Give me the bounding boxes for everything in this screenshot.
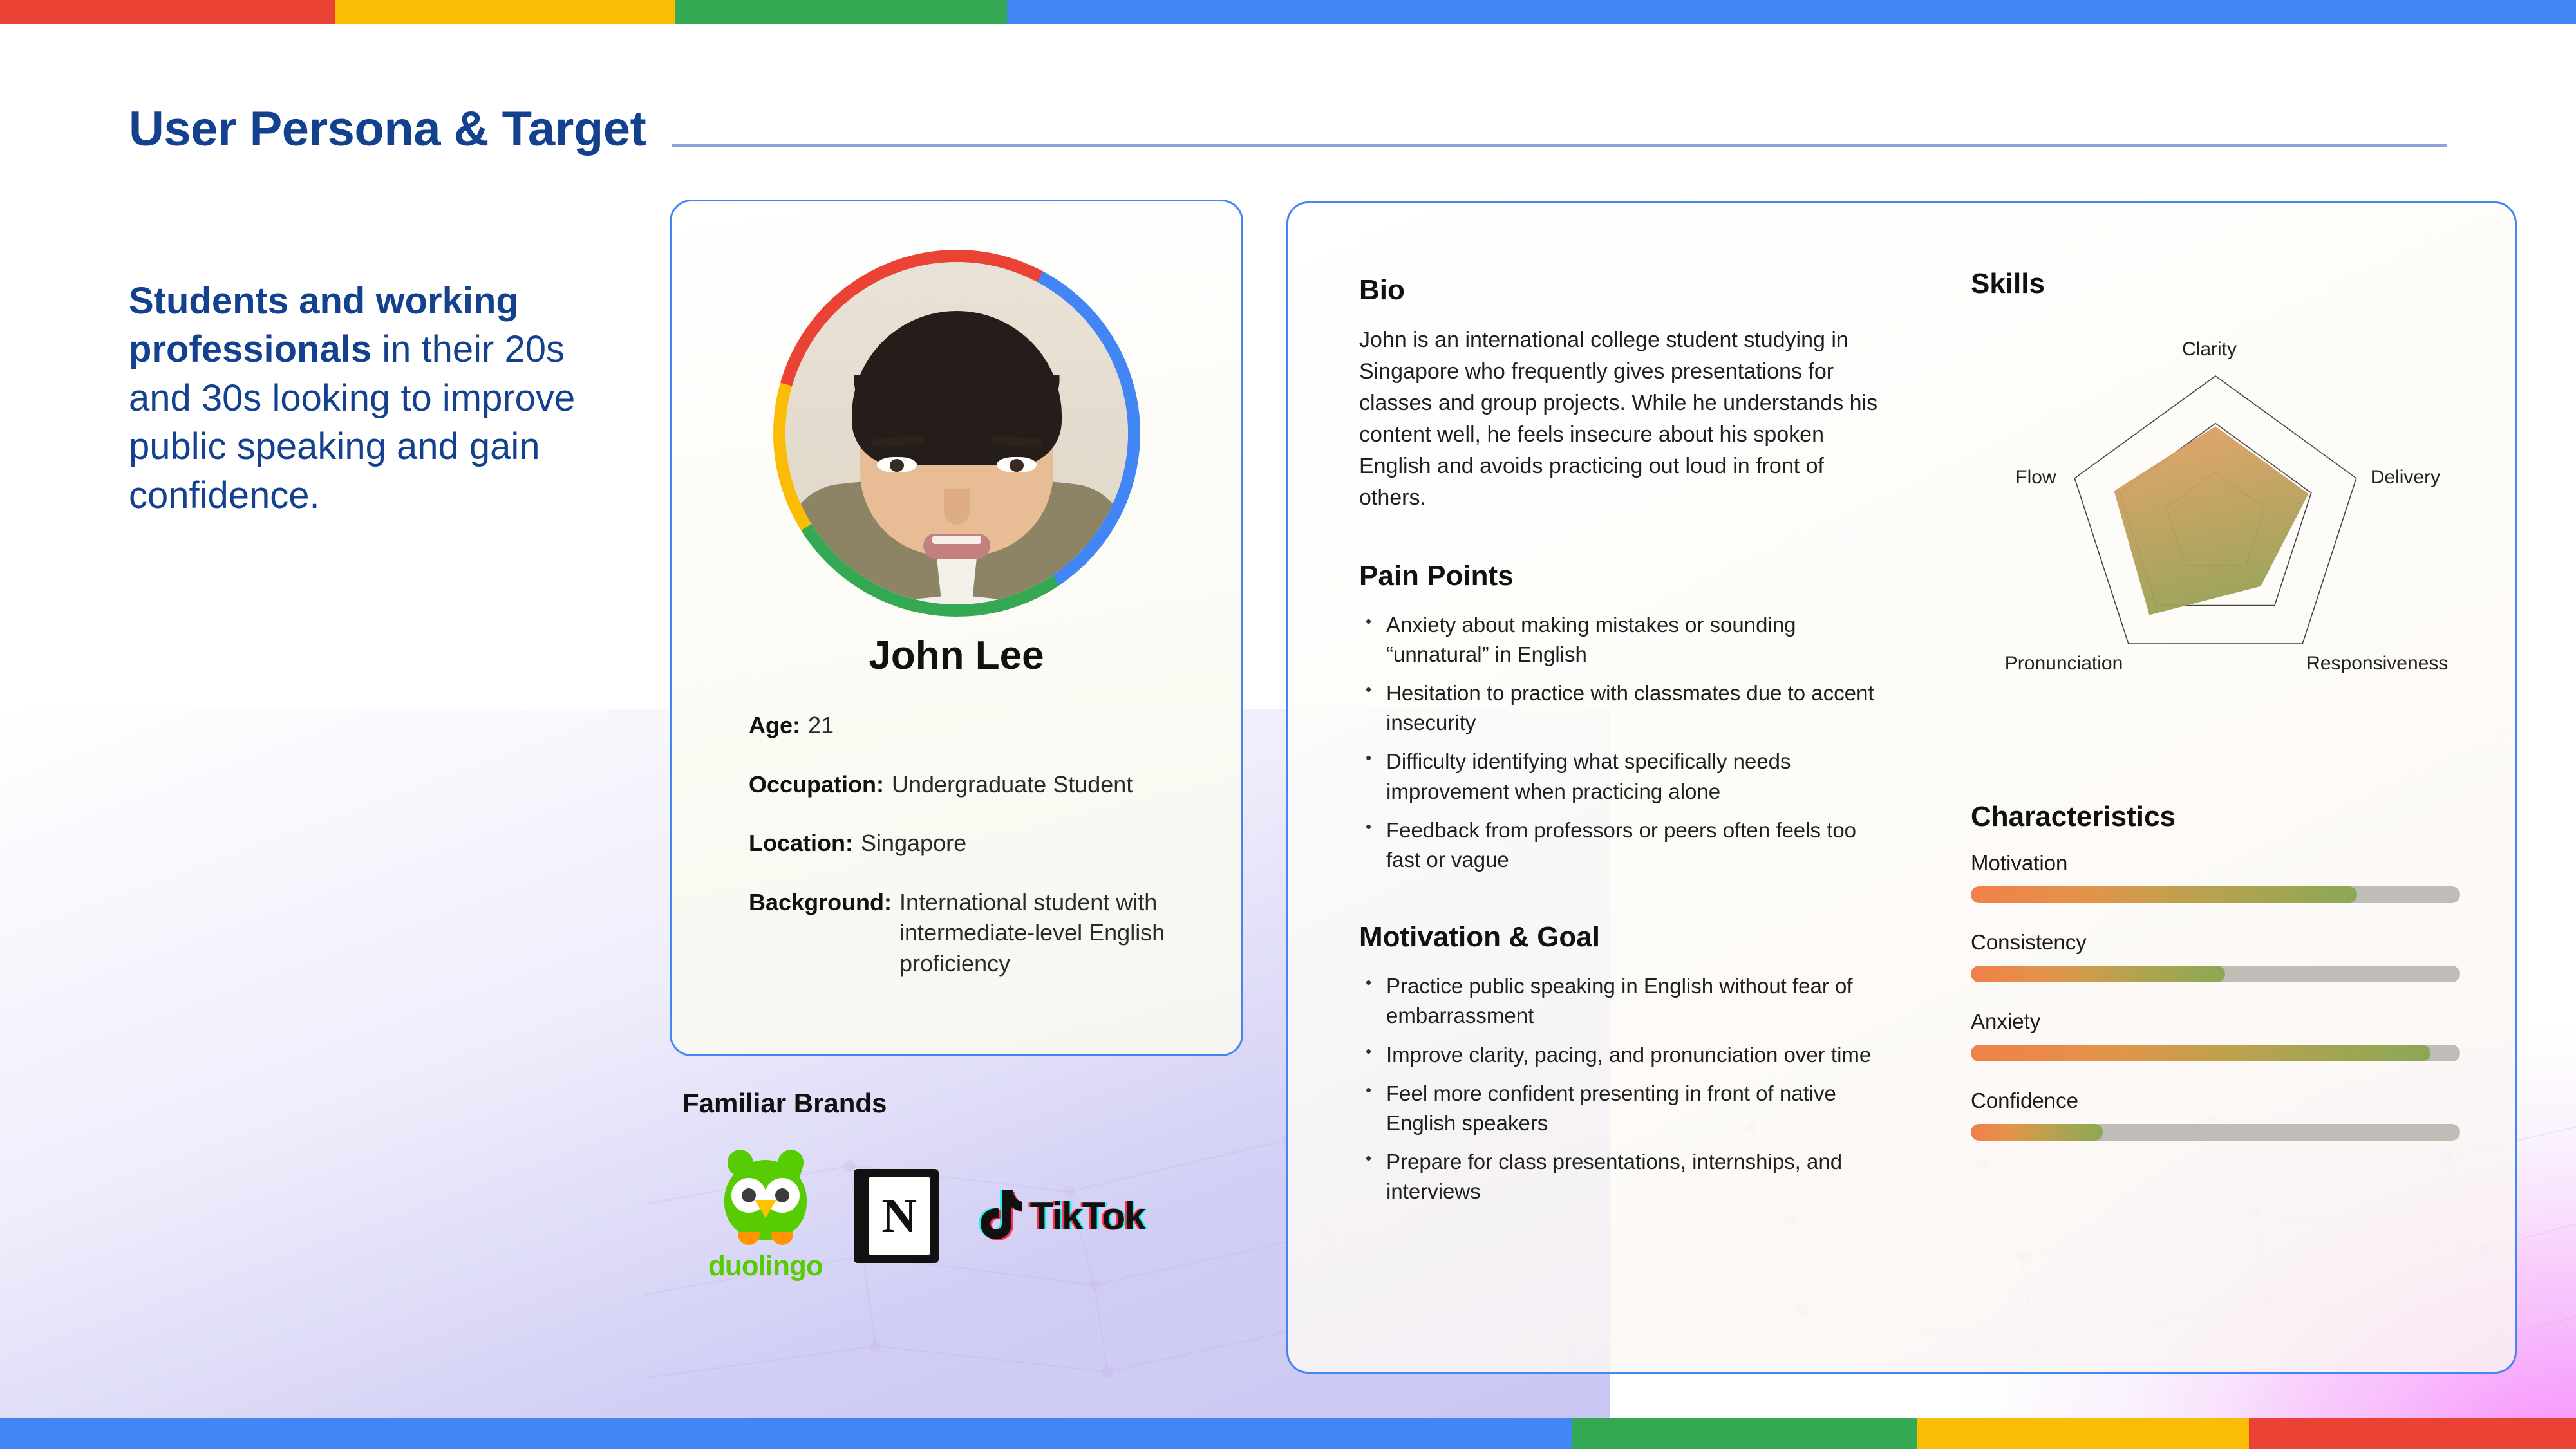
motivation-list: Practice public speaking in English with… <box>1359 971 1887 1206</box>
radar-label-responsiveness: Responsiveness <box>2306 653 2448 675</box>
persona-field-label: Location: <box>749 828 853 859</box>
skills-radar-chart: Clarity Delivery Responsiveness Pronunci… <box>1971 318 2460 769</box>
characteristic-fill <box>1971 1045 2430 1061</box>
duolingo-owl-icon <box>717 1150 814 1246</box>
persona-field-value: Singapore <box>861 828 966 859</box>
list-item: Hesitation to practice with classmates d… <box>1359 678 1887 738</box>
notion-logo: N <box>860 1169 939 1263</box>
tiktok-wordmark: TikTok <box>1030 1194 1145 1239</box>
list-item: Anxiety about making mistakes or soundin… <box>1359 610 1887 669</box>
characteristic-fill <box>1971 1124 2103 1141</box>
characteristic-track <box>1971 886 2460 903</box>
avatar-photo <box>785 262 1128 604</box>
topbar-segment-green <box>675 0 1007 24</box>
owl-beak <box>755 1200 776 1218</box>
notion-inner-face: N <box>869 1177 930 1255</box>
radar-label-clarity: Clarity <box>2182 339 2237 360</box>
pain-points-list: Anxiety about making mistakes or soundin… <box>1359 610 1887 875</box>
owl-pupil-right <box>775 1188 789 1202</box>
persona-field-value: Undergraduate Student <box>892 769 1133 800</box>
notion-box-icon: N <box>860 1169 939 1263</box>
characteristic-track <box>1971 966 2460 982</box>
persona-field-value: International student with intermediate-… <box>899 887 1203 979</box>
characteristic-label: Consistency <box>1971 930 2460 955</box>
radar-label-flow: Flow <box>2015 467 2056 489</box>
persona-field-row: Age:21 <box>749 710 1203 741</box>
persona-card: John Lee Age:21Occupation:Undergraduate … <box>670 200 1243 1056</box>
bottombar-segment-green <box>1572 1418 1917 1449</box>
characteristic-label: Motivation <box>1971 851 2460 875</box>
motivation-heading: Motivation & Goal <box>1359 921 1887 953</box>
duolingo-wordmark: duolingo <box>708 1250 823 1282</box>
detail-left-column: Bio John is an international college stu… <box>1359 274 1887 1216</box>
radar-label-pronunciation: Pronunciation <box>2005 653 2123 675</box>
brand-logo-row: duolingo N TikTok <box>682 1150 1262 1282</box>
tiktok-note-icon <box>976 1188 1022 1244</box>
avatar <box>773 250 1140 617</box>
pain-points-heading: Pain Points <box>1359 560 1887 592</box>
skills-heading: Skills <box>1971 268 2460 300</box>
owl-foot-left <box>738 1232 760 1245</box>
avatar-nose <box>944 489 970 525</box>
characteristic-fill <box>1971 966 2225 982</box>
characteristic-row: Anxiety <box>1971 1009 2460 1061</box>
bio-heading: Bio <box>1359 274 1887 306</box>
persona-field-label: Age: <box>749 710 800 741</box>
topbar-segment-blue <box>1007 0 2576 24</box>
list-item: Improve clarity, pacing, and pronunciati… <box>1359 1040 1887 1070</box>
radar-label-delivery: Delivery <box>2371 467 2440 489</box>
topbar-segment-yellow <box>335 0 675 24</box>
familiar-brands-section: Familiar Brands duolingo N <box>682 1088 1262 1282</box>
persona-field-row: Location:Singapore <box>749 828 1203 859</box>
skills-section: Skills Clarity Delivery Responsiveness P… <box>1971 268 2460 769</box>
bio-section: Bio John is an international college stu… <box>1359 274 1887 514</box>
list-item: Prepare for class presentations, interns… <box>1359 1147 1887 1206</box>
motivation-section: Motivation & Goal Practice public speaki… <box>1359 921 1887 1206</box>
notion-wordmark: N <box>881 1192 917 1240</box>
characteristic-track <box>1971 1045 2460 1061</box>
title-divider <box>672 144 2447 147</box>
persona-name: John Lee <box>672 633 1241 678</box>
page-title: User Persona & Target <box>129 101 646 157</box>
list-item: Difficulty identifying what specifically… <box>1359 747 1887 806</box>
characteristic-label: Anxiety <box>1971 1009 2460 1034</box>
bottombar-segment-yellow <box>1917 1418 2249 1449</box>
pain-points-section: Pain Points Anxiety about making mistake… <box>1359 560 1887 875</box>
tiktok-logo: TikTok <box>976 1188 1145 1244</box>
duolingo-logo: duolingo <box>708 1150 823 1282</box>
avatar-teeth <box>932 536 981 544</box>
characteristic-track <box>1971 1124 2460 1141</box>
list-item: Feedback from professors or peers often … <box>1359 816 1887 875</box>
persona-field-list: Age:21Occupation:Undergraduate StudentLo… <box>749 710 1203 978</box>
owl-foot-right <box>771 1232 793 1245</box>
characteristic-fill <box>1971 886 2357 903</box>
avatar-eye-left <box>877 457 917 472</box>
persona-field-row: Occupation:Undergraduate Student <box>749 769 1203 800</box>
bottom-color-bar <box>0 1418 2576 1449</box>
avatar-pupil-left <box>890 459 904 472</box>
detail-right-column: Skills Clarity Delivery Responsiveness P… <box>1971 268 2460 1141</box>
characteristics-heading: Characteristics <box>1971 801 2460 833</box>
characteristic-row: Motivation <box>1971 851 2460 903</box>
characteristic-row: Confidence <box>1971 1089 2460 1141</box>
tiktok-note-glyph <box>976 1188 1022 1244</box>
familiar-brands-title: Familiar Brands <box>682 1088 1262 1119</box>
characteristic-label: Confidence <box>1971 1089 2460 1113</box>
list-item: Practice public speaking in English with… <box>1359 971 1887 1031</box>
characteristics-bar-list: MotivationConsistencyAnxietyConfidence <box>1971 851 2460 1141</box>
characteristic-row: Consistency <box>1971 930 2460 982</box>
avatar-mouth <box>923 534 990 559</box>
persona-field-label: Occupation: <box>749 769 884 800</box>
bottombar-segment-red <box>2249 1418 2576 1449</box>
persona-field-label: Background: <box>749 887 892 979</box>
avatar-pupil-right <box>1010 459 1024 472</box>
persona-field-value: 21 <box>808 710 834 741</box>
owl-pupil-left <box>742 1188 756 1202</box>
slide-header: User Persona & Target <box>129 90 2447 167</box>
top-color-bar <box>0 0 2576 24</box>
avatar-eye-right <box>997 457 1037 472</box>
persona-detail-card: Bio John is an international college stu… <box>1286 201 2517 1374</box>
bottombar-segment-blue <box>0 1418 1572 1449</box>
characteristics-section: Characteristics MotivationConsistencyAnx… <box>1971 801 2460 1141</box>
persona-field-row: Background:International student with in… <box>749 887 1203 979</box>
target-audience-statement: Students and working professionals in th… <box>129 277 618 519</box>
bio-text: John is an international college student… <box>1359 324 1887 514</box>
topbar-segment-red <box>0 0 335 24</box>
list-item: Feel more confident presenting in front … <box>1359 1079 1887 1138</box>
